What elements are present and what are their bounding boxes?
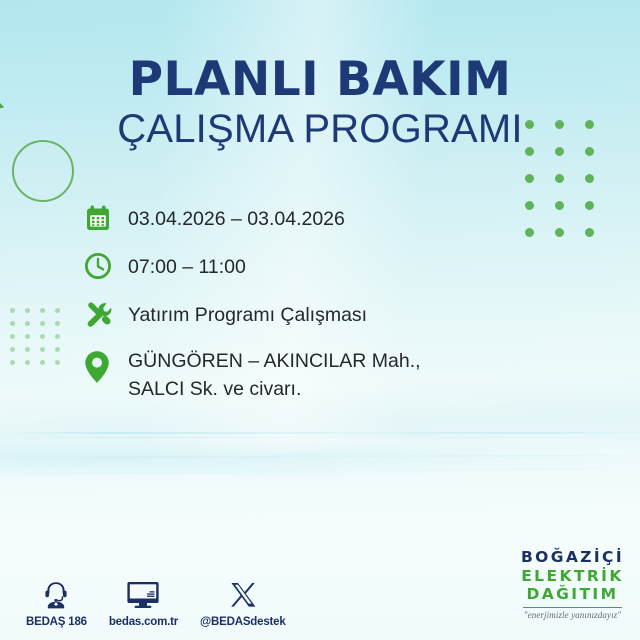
contact-label: bedas.com.tr: [109, 616, 178, 628]
tools-icon: [84, 298, 128, 330]
brand-line-3: DAĞITIM: [521, 587, 624, 603]
contact-call-center[interactable]: BEDAŞ 186: [26, 576, 87, 628]
detail-value-time: 07:00 – 11:00: [128, 250, 246, 282]
location-line-1: GÜNGÖREN – AKINCILAR Mah.,: [128, 350, 421, 372]
detail-row-date: 03.04.2026 – 03.04.2026: [84, 202, 554, 250]
brand-tagline: "enerjimizle yanınızdayız": [521, 611, 624, 620]
detail-value-location: GÜNGÖREN – AKINCILAR Mah., SALCI Sk. ve …: [128, 346, 421, 403]
map-pin-icon: [84, 346, 128, 384]
detail-value-date: 03.04.2026 – 03.04.2026: [128, 202, 345, 234]
brand-line-1: BOĞAZİÇİ: [521, 550, 624, 566]
background-wave-line: [0, 432, 640, 434]
background-wave-line: [0, 437, 640, 438]
calendar-icon: [84, 202, 128, 232]
contact-website[interactable]: bedas.com.tr: [109, 576, 178, 628]
title-primary: PLANLI BAKIM: [0, 56, 640, 104]
page-title: PLANLI BAKIM ÇALIŞMA PROGRAMI: [0, 56, 640, 153]
contact-label: @BEDASdestek: [200, 616, 286, 628]
outage-details: 03.04.2026 – 03.04.2026 07:00 – 11:00: [84, 202, 554, 403]
brand-line-2: ELEKTRİK: [521, 569, 624, 585]
footer: BEDAŞ 186 bedas.com.tr: [0, 556, 640, 640]
detail-row-work-type: Yatırım Programı Çalışması: [84, 298, 554, 346]
x-social-icon: [228, 576, 258, 610]
headset-icon: [40, 576, 72, 610]
title-secondary: ÇALIŞMA PROGRAMI: [0, 106, 640, 153]
dot-grid-left-decoration: [10, 308, 70, 373]
brand-divider: [523, 607, 622, 609]
clock-icon: [84, 250, 128, 280]
detail-row-location: GÜNGÖREN – AKINCILAR Mah., SALCI Sk. ve …: [84, 346, 554, 403]
contact-label: BEDAŞ 186: [26, 616, 87, 628]
location-line-2: SALCI Sk. ve civarı.: [128, 376, 421, 404]
detail-value-work-type: Yatırım Programı Çalışması: [128, 298, 367, 330]
detail-row-time: 07:00 – 11:00: [84, 250, 554, 298]
footer-contacts: BEDAŞ 186 bedas.com.tr: [26, 576, 286, 628]
contact-x-social[interactable]: @BEDASdestek: [200, 576, 286, 628]
brand-logo: BOĞAZİÇİ ELEKTRİK DAĞITIM "enerjimizle y…: [521, 550, 624, 620]
monitor-icon: [125, 576, 161, 610]
